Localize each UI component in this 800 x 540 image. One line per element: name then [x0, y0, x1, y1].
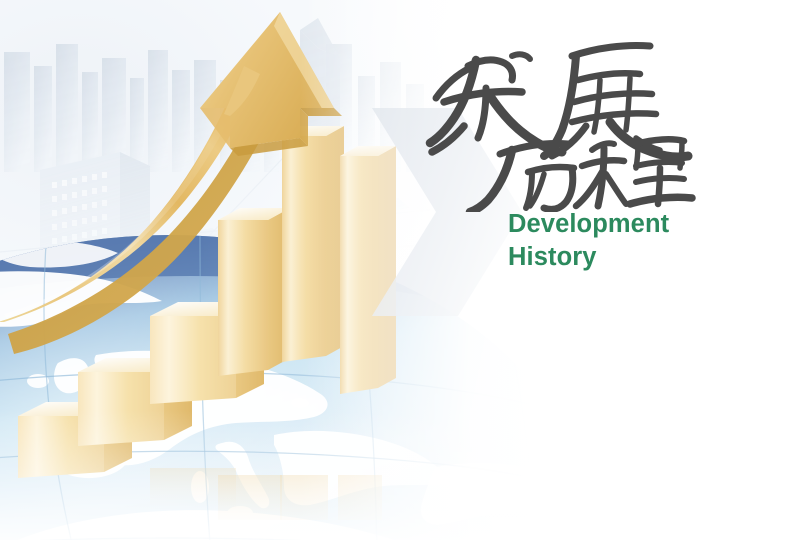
title-block: Development History	[424, 22, 754, 274]
english-title-line-2: History	[508, 241, 754, 274]
development-history-banner: Development History	[0, 0, 800, 540]
english-title-line-1: Development	[508, 208, 754, 241]
chinese-calligraphy-title	[424, 22, 754, 212]
english-title: Development History	[508, 208, 754, 274]
